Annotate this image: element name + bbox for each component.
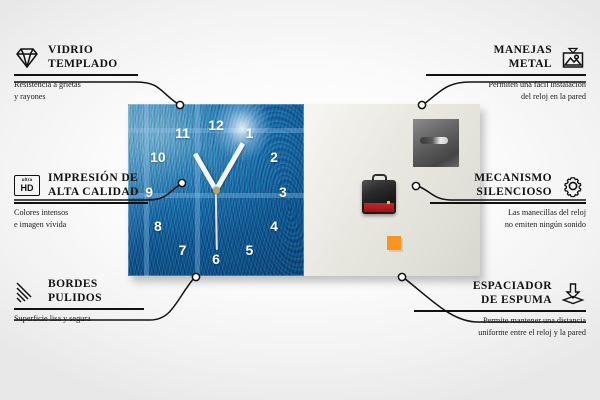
callout-sub-line2: no emiten ningún sonido — [505, 220, 586, 229]
infographic-stage: 12 1 2 3 4 5 6 7 8 9 10 11 — [0, 0, 600, 400]
callout-title-line2: SILENCIOSO — [476, 186, 552, 198]
callout-sub-line2: del reloj en la pared — [521, 92, 586, 101]
foam-spacer-arrow-icon — [560, 282, 586, 306]
callout-title-line2: DE ESPUMA — [481, 294, 552, 306]
diamond-icon — [14, 46, 40, 70]
callout-title-line1: VIDRIO — [48, 44, 93, 56]
polished-edges-icon — [14, 280, 40, 304]
callout-sub-line1: Colores intensos — [14, 208, 68, 217]
callout-title-line2: PULIDOS — [48, 292, 102, 304]
callout-title-line1: ESPACIADOR — [473, 280, 552, 292]
callout-title-line1: MANEJAS — [494, 44, 552, 56]
callout-impresion-alta-calidad[interactable]: ultra HD IMPRESIÓN DE ALTA CALIDAD Color… — [14, 172, 150, 231]
callout-sub-line1: Resistencia a grietas — [14, 80, 81, 89]
callout-sub-line2: uniforme entre el reloj y la pared — [478, 328, 586, 337]
callout-rule — [414, 310, 586, 312]
callout-sub-line1: Superficie lisa y segura — [14, 314, 91, 323]
callout-bordes-pulidos[interactable]: BORDES PULIDOS Superficie lisa y segura — [14, 278, 146, 325]
ultra-hd-icon: ultra HD — [14, 175, 40, 196]
picture-frame-hanger-icon — [560, 46, 586, 70]
callout-sub-line2: y rayones — [14, 92, 46, 101]
gear-icon — [560, 174, 586, 198]
callout-title-line2: ALTA CALIDAD — [48, 186, 139, 198]
callout-espaciador-espuma[interactable]: ESPACIADOR DE ESPUMA Permite mantener un… — [414, 280, 586, 339]
callout-manejas-metal[interactable]: MANEJAS METAL Permiten una fácil instala… — [426, 44, 586, 103]
callout-title-line2: TEMPLADO — [48, 58, 118, 70]
product-photo: 12 1 2 3 4 5 6 7 8 9 10 11 — [128, 104, 480, 276]
callout-title-line1: MECANISMO — [474, 172, 552, 184]
callout-title-line1: IMPRESIÓN DE — [48, 172, 138, 184]
callout-rule — [14, 202, 148, 204]
callout-mecanismo-silencioso[interactable]: MECANISMO SILENCIOSO Las manecillas del … — [430, 172, 586, 231]
callout-title-line2: METAL — [509, 58, 552, 70]
callout-sub-line1: Permiten una fácil instalación — [488, 80, 586, 89]
callout-rule — [14, 308, 144, 310]
callout-title-line1: BORDES — [48, 278, 98, 290]
callout-vidrio-templado[interactable]: VIDRIO TEMPLADO Resistencia a grietas y … — [14, 44, 146, 103]
callout-rule — [430, 202, 586, 204]
callout-sub-line2: e imagen vívida — [14, 220, 66, 229]
glass-edge-highlight — [128, 104, 304, 276]
callout-sub-line1: Permite mantener una distancia — [483, 316, 586, 325]
ultra-hd-large-text: HD — [21, 184, 34, 193]
callout-rule — [14, 74, 138, 76]
callout-rule — [426, 74, 586, 76]
clock-front-panel: 12 1 2 3 4 5 6 7 8 9 10 11 — [128, 104, 304, 276]
callout-sub-line1: Las manecillas del reloj — [508, 208, 586, 217]
